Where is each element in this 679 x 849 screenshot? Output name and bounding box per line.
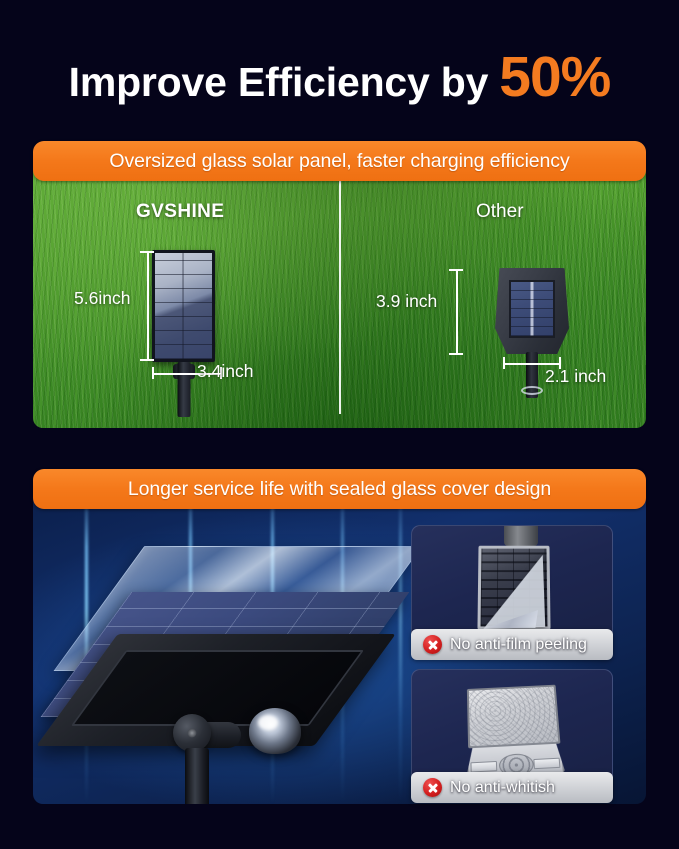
product-infographic-poster: Improve Efficiency by 50% GVSHINE Other xyxy=(0,0,679,849)
stand-pole xyxy=(185,748,209,804)
gvshine-height-label: 5.6inch xyxy=(74,288,130,309)
brand-label-other: Other xyxy=(476,201,524,223)
other-height-cap-top xyxy=(449,269,463,271)
gvshine-ground-stake xyxy=(177,362,190,417)
feature-banner-2-text: Longer service life with sealed glass co… xyxy=(128,478,551,501)
other-width-cap-left xyxy=(503,357,505,369)
gvshine-solar-panel xyxy=(152,250,215,362)
whitish-panel-top xyxy=(467,685,561,749)
peeling-panel-mount xyxy=(504,526,538,546)
page-title: Improve Efficiency by 50% xyxy=(0,44,679,116)
defect-caption-whitish: No anti-whitish xyxy=(411,772,613,803)
red-x-icon xyxy=(423,778,442,797)
gvshine-solar-light xyxy=(152,250,215,362)
page-title-main: Improve Efficiency by xyxy=(69,59,489,106)
defect-caption-film-peeling: No anti-film peeling xyxy=(411,629,613,660)
whitish-panel-led-strip-right xyxy=(533,758,560,770)
mount-knob xyxy=(173,714,211,752)
other-stake-ring xyxy=(521,386,543,395)
other-width-rule xyxy=(503,363,561,365)
feature-banner-1: Oversized glass solar panel, faster char… xyxy=(33,141,646,181)
red-x-icon xyxy=(423,635,442,654)
other-height-label: 3.9 inch xyxy=(376,291,437,312)
other-solar-cell xyxy=(509,280,555,338)
other-height-cap-bottom xyxy=(449,353,463,355)
gvshine-height-cap-bottom xyxy=(140,359,154,361)
page-title-accent: 50% xyxy=(499,44,610,110)
whitish-panel-led-strip-left xyxy=(470,761,497,773)
feature-banner-2: Longer service life with sealed glass co… xyxy=(33,469,646,509)
gvshine-height-rule xyxy=(147,251,149,361)
other-housing xyxy=(495,268,569,354)
other-solar-light xyxy=(495,268,569,354)
other-width-label: 2.1 inch xyxy=(545,366,606,387)
gvshine-width-cap-left xyxy=(152,367,154,379)
defect-caption-whitish-text: No anti-whitish xyxy=(450,779,555,797)
size-comparison-photo: GVSHINE Other 5.6inch 3.4inch xyxy=(33,163,646,428)
defect-caption-film-peeling-text: No anti-film peeling xyxy=(450,636,587,654)
gvshine-width-label: 3.4inch xyxy=(197,361,253,382)
gvshine-height-cap-top xyxy=(140,251,154,253)
exploded-solar-assembly xyxy=(73,536,403,798)
feature-banner-1-text: Oversized glass solar panel, faster char… xyxy=(109,150,569,173)
lamp-head xyxy=(249,708,301,754)
other-height-rule xyxy=(456,269,458,355)
brand-label-gvshine: GVSHINE xyxy=(136,201,224,223)
comparison-divider xyxy=(339,177,341,414)
